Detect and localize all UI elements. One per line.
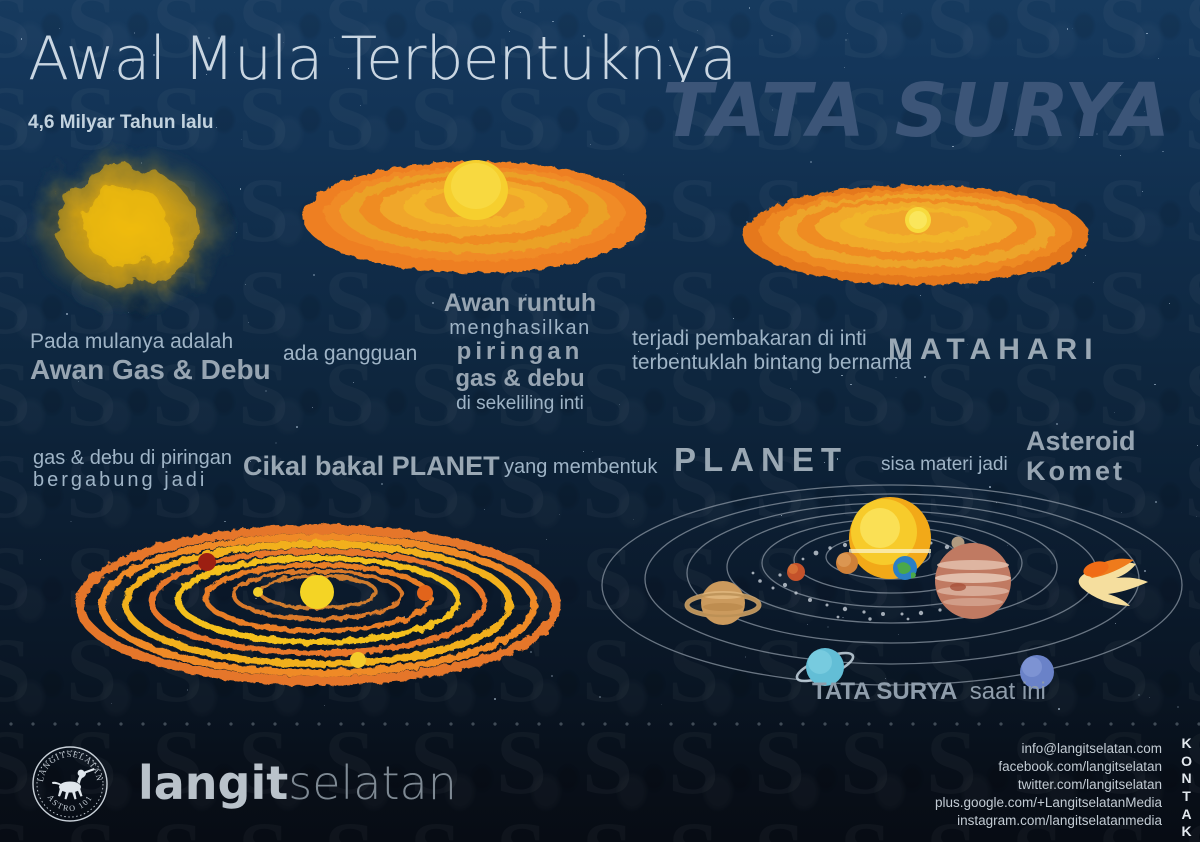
nebula-cloud-icon: [8, 128, 258, 328]
stage1-line2: Awan Gas & Debu: [30, 354, 271, 385]
body-sun: [849, 497, 931, 579]
protoplanet-red: [198, 553, 216, 571]
stage4-caption: terjadi pembakaran di inti terbentuklah …: [632, 327, 911, 374]
contact-facebook[interactable]: facebook.com/langitselatan: [742, 758, 1162, 776]
protoplanetary-disk-2-illustration: [740, 175, 1092, 293]
disk-with-protostar-icon: [300, 142, 650, 287]
page-title-big: TATA SURYA: [662, 68, 1172, 154]
kontak-letter-4: A: [1181, 806, 1192, 824]
body-mars: [787, 563, 805, 581]
stage2-label: ada gangguan: [283, 341, 417, 367]
protoplanetary-disk-1-illustration: [300, 142, 650, 287]
infographic-poster: SSSSSSSSSSSSSSSSSSSSSSSSSSSSSSSSSSSSSSSS…: [0, 0, 1200, 842]
stage3-caption: Awan runtuh menghasilkan piringan gas & …: [435, 289, 605, 414]
stage9-label: sisa materi jadi: [881, 453, 1008, 477]
protoplanet-yellow: [350, 652, 366, 668]
proto-sun: [300, 575, 334, 609]
stage3-line1: Awan runtuh: [435, 289, 605, 317]
solar-system-caption: TATA SURYA saat ini: [812, 678, 1046, 706]
stage3-line3: piringan: [435, 339, 605, 366]
protoplanet-orange: [417, 585, 433, 601]
contact-list: info@langitselatan.com facebook.com/lang…: [742, 740, 1162, 830]
stage3-line2: menghasilkan: [435, 317, 605, 339]
langitselatan-seal-logo[interactable]: LANGITSELATAN ASTRO 101: [30, 744, 110, 824]
stage6-label: Cikal bakal PLANET: [243, 452, 500, 482]
brand-light: selatan: [288, 756, 457, 810]
stage10-line2: Komet: [1026, 456, 1136, 486]
contact-instagram[interactable]: instagram.com/langitselatanmedia: [742, 812, 1162, 830]
stage7-label: yang membentuk: [504, 455, 657, 480]
stage10-caption: Asteroid Komet: [1026, 426, 1136, 486]
kontak-vertical-label: K O N T A K: [1181, 735, 1192, 841]
seal-icon: LANGITSELATAN ASTRO 101: [30, 744, 110, 824]
kontak-letter-5: K: [1181, 823, 1192, 841]
contact-twitter[interactable]: twitter.com/langitselatan: [742, 776, 1162, 794]
stage3-line5: di sekeliling inti: [435, 393, 605, 414]
body-comet: [1079, 559, 1148, 606]
kontak-letter-2: N: [1181, 770, 1192, 788]
proto-solar-system-illustration: [70, 512, 570, 698]
stage4-line1: terjadi pembakaran di inti: [632, 327, 911, 351]
stage1-caption: Pada mulanya adalah Awan Gas & Debu: [30, 330, 271, 385]
kontak-letter-1: O: [1181, 753, 1192, 771]
page-title: Awal Mula Terbentuknya: [28, 24, 736, 94]
solar-system-caption-bold: TATA SURYA: [812, 678, 957, 705]
body-venus: [836, 552, 858, 574]
brand-bold: langit: [138, 756, 288, 810]
stage5-line2: bergabung jadi: [33, 469, 232, 491]
body-earth: [893, 556, 917, 580]
body-saturn: [687, 581, 759, 625]
protoplanet-inner: [253, 587, 263, 597]
contact-gplus[interactable]: plus.google.com/+LangitselatanMedia: [742, 794, 1162, 812]
disk-with-star-icon: [740, 175, 1092, 293]
stage5-caption: gas & debu di piringan bergabung jadi: [33, 447, 232, 492]
stage5-line1: gas & debu di piringan: [33, 447, 232, 469]
solar-system-caption-light: saat ini: [970, 678, 1046, 705]
kontak-letter-0: K: [1181, 735, 1192, 753]
footer: LANGITSELATAN ASTRO 101: [0, 726, 1200, 842]
stage4-sun-label: MATAHARI: [888, 333, 1100, 366]
stage8-planet-label: PLANET: [674, 442, 848, 478]
contact-email[interactable]: info@langitselatan.com: [742, 740, 1162, 758]
forming-planet-orbits-icon: [70, 512, 570, 698]
stage1-line1: Pada mulanya adalah: [30, 330, 271, 354]
svg-text:ASTRO 101: ASTRO 101: [46, 793, 95, 813]
stage10-line1: Asteroid: [1026, 426, 1136, 456]
kontak-letter-3: T: [1181, 788, 1192, 806]
stage3-line4: gas & debu: [435, 366, 605, 393]
body-jupiter: [935, 543, 1011, 619]
brand-wordmark[interactable]: langitselatan: [138, 756, 457, 810]
gas-dust-cloud-illustration: [8, 128, 258, 328]
stage4-line2: terbentuklah bintang bernama: [632, 351, 911, 375]
